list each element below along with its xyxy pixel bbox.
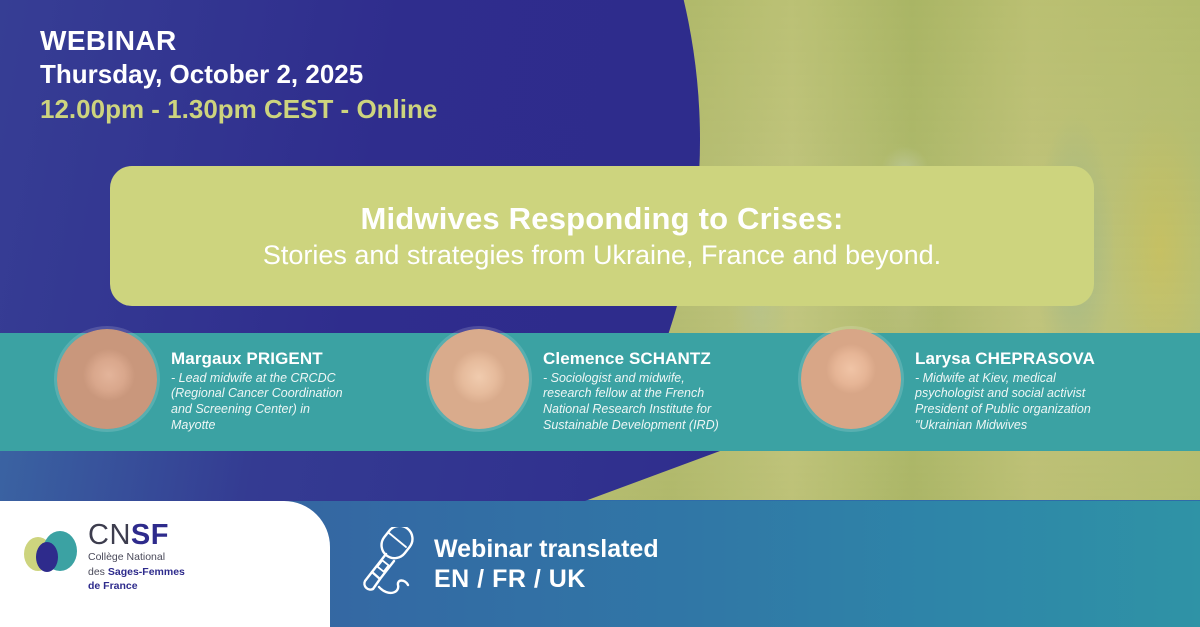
title-main: Midwives Responding to Crises: xyxy=(360,201,843,238)
speaker-text: Larysa CHEPRASOVA - Midwife at Kiev, med… xyxy=(915,333,1095,434)
cnsf-wordmark: CNSF Collège National des Sages-Femmes d… xyxy=(88,521,185,594)
speaker-card: Clemence SCHANTZ - Sociologist and midwi… xyxy=(429,333,719,451)
cnsf-line-3: de France xyxy=(88,579,185,594)
speaker-name: Margaux PRIGENT xyxy=(171,350,343,369)
speaker-role: - Sociologist and midwife, research fell… xyxy=(543,371,719,434)
speaker-text: Margaux PRIGENT - Lead midwife at the CR… xyxy=(171,333,343,434)
speaker-role: - Midwife at Kiev, medical psychologist … xyxy=(915,371,1095,434)
speaker-name: Clemence SCHANTZ xyxy=(543,350,719,369)
webinar-time: 12.00pm - 1.30pm CEST - Online xyxy=(40,93,437,127)
translation-line-1: Webinar translated xyxy=(434,534,659,565)
cnsf-circles-icon xyxy=(20,529,82,577)
speaker-card: Larysa CHEPRASOVA - Midwife at Kiev, med… xyxy=(801,333,1095,451)
webinar-poster: WEBINAR Thursday, October 2, 2025 12.00p… xyxy=(0,0,1200,627)
title-banner: Midwives Responding to Crises: Stories a… xyxy=(110,166,1094,306)
avatar xyxy=(57,329,157,429)
cnsf-acronym-light: CN xyxy=(88,519,131,551)
cnsf-line-2: des Sages-Femmes xyxy=(88,565,185,580)
speakers-band: Margaux PRIGENT - Lead midwife at the CR… xyxy=(0,333,1200,451)
speaker-role: - Lead midwife at the CRCDC (Regional Ca… xyxy=(171,371,343,434)
speaker-text: Clemence SCHANTZ - Sociologist and midwi… xyxy=(543,333,719,434)
cnsf-acronym: CNSF xyxy=(88,521,185,550)
logo-card: CNSF Collège National des Sages-Femmes d… xyxy=(0,501,330,627)
translation-block: Webinar translated EN / FR / UK xyxy=(358,527,659,601)
cnsf-line-2-bold: Sages-Femmes xyxy=(108,566,185,578)
webinar-date: Thursday, October 2, 2025 xyxy=(40,58,437,91)
avatar xyxy=(429,329,529,429)
title-subtitle: Stories and strategies from Ukraine, Fra… xyxy=(263,239,941,271)
webinar-kicker: WEBINAR xyxy=(40,24,437,58)
cnsf-acronym-bold: SF xyxy=(131,519,169,551)
translation-line-2: EN / FR / UK xyxy=(434,564,659,595)
speaker-card: Margaux PRIGENT - Lead midwife at the CR… xyxy=(57,333,343,451)
translation-text: Webinar translated EN / FR / UK xyxy=(434,534,659,595)
microphone-icon xyxy=(358,527,420,601)
cnsf-line-2-plain: des xyxy=(88,566,108,578)
speaker-name: Larysa CHEPRASOVA xyxy=(915,350,1095,369)
avatar xyxy=(801,329,901,429)
header-text-block: WEBINAR Thursday, October 2, 2025 12.00p… xyxy=(40,24,437,127)
cnsf-line-1: Collège National xyxy=(88,550,185,565)
